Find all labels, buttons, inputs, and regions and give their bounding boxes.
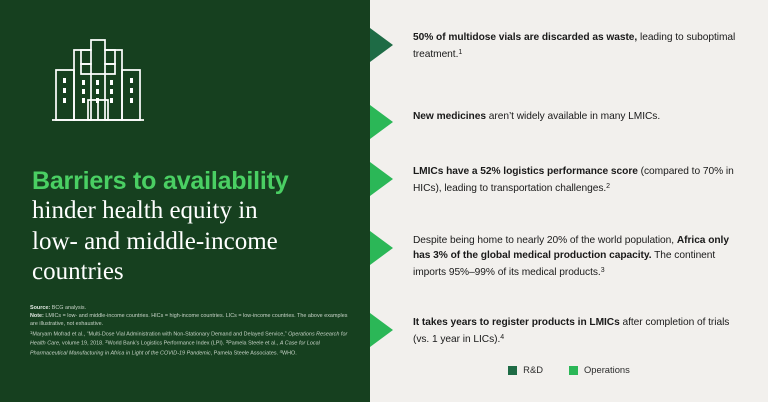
page-title: Barriers to availability hinder health e…	[32, 166, 350, 288]
arrow-marker-icon	[370, 231, 393, 265]
fact-text: Despite being home to nearly 20% of the …	[413, 233, 743, 281]
footnote-ref-3-post: , Pamela Steele Associates.	[211, 351, 280, 357]
footnote-source: Source: BCG analysis.	[30, 304, 348, 312]
arrow-marker-icon	[370, 28, 393, 62]
hospital-icon	[46, 37, 150, 125]
fact-4-lead: Despite being home to nearly 20% of the …	[413, 235, 677, 246]
fact-5-footnote-marker: 4	[500, 334, 504, 341]
legend-label-rnd: R&D	[523, 365, 543, 375]
footnote-references: 1Maryam Mofrad et al., “Multi-Dose Vial …	[30, 329, 348, 358]
legend-swatch-rnd-icon	[508, 366, 517, 375]
fact-1-footnote-marker: 1	[458, 49, 462, 56]
headline-line-1: hinder health equity in	[32, 196, 350, 227]
headline-accent: Barriers to availability	[32, 166, 350, 196]
fact-1-bold: 50% of multidose vials are discarded as …	[413, 32, 637, 43]
footnote-note-text: LMICs = low- and middle-income countries…	[30, 313, 347, 327]
footnotes: Source: BCG analysis. Note: LMICs = low-…	[30, 304, 348, 358]
arrow-shape-1	[370, 28, 393, 62]
footnote-ref-1-post: , volume 19, 2018.	[59, 341, 105, 347]
fact-text: New medicines aren’t widely available in…	[413, 107, 743, 124]
arrow-shape-4	[370, 231, 393, 265]
arrow-shape-3	[370, 162, 393, 196]
footnote-note-label: Note:	[30, 313, 44, 319]
arrow-marker-icon	[370, 105, 393, 139]
footnote-source-text: BCG analysis.	[50, 305, 86, 311]
fact-5-bold: It takes years to register products in L…	[413, 317, 620, 328]
footnote-ref-2-text: World Bank’s Logistics Performance Index…	[108, 341, 226, 347]
fact-2-rest: aren’t widely available in many LMICs.	[486, 111, 660, 122]
footnote-note: Note: LMICs = low- and middle-income cou…	[30, 312, 348, 328]
fact-2-bold: New medicines	[413, 111, 486, 122]
footnote-source-label: Source:	[30, 305, 50, 311]
right-panel: 50% of multidose vials are discarded as …	[370, 0, 768, 402]
infographic-root: Barriers to availability hinder health e…	[0, 0, 768, 402]
footnote-ref-4-text: WHO.	[282, 351, 297, 357]
left-panel: Barriers to availability hinder health e…	[0, 0, 370, 402]
fact-text: It takes years to register products in L…	[413, 315, 743, 348]
headline-line-2: low- and middle-income	[32, 227, 350, 258]
legend-swatch-operations-icon	[569, 366, 578, 375]
arrow-shape-2	[370, 105, 393, 139]
legend-item-operations: Operations	[569, 365, 630, 375]
legend: R&D Operations	[370, 365, 768, 375]
fact-4-footnote-marker: 3	[601, 267, 605, 274]
arrow-marker-icon	[370, 313, 393, 347]
footnote-ref-1-pre: Maryam Mofrad et al., “Multi-Dose Vial A…	[32, 331, 288, 337]
fact-text: 50% of multidose vials are discarded as …	[413, 30, 743, 63]
fact-3-bold: LMICs have a 52% logistics performance s…	[413, 166, 638, 177]
legend-label-operations: Operations	[584, 365, 630, 375]
arrow-shape-5	[370, 313, 393, 347]
headline-line-3: countries	[32, 257, 350, 288]
arrow-marker-icon	[370, 162, 393, 196]
fact-text: LMICs have a 52% logistics performance s…	[413, 164, 743, 197]
legend-item-rnd: R&D	[508, 365, 543, 375]
footnote-ref-3-pre: Pamela Steele et al.,	[228, 341, 280, 347]
fact-3-footnote-marker: 2	[606, 183, 610, 190]
